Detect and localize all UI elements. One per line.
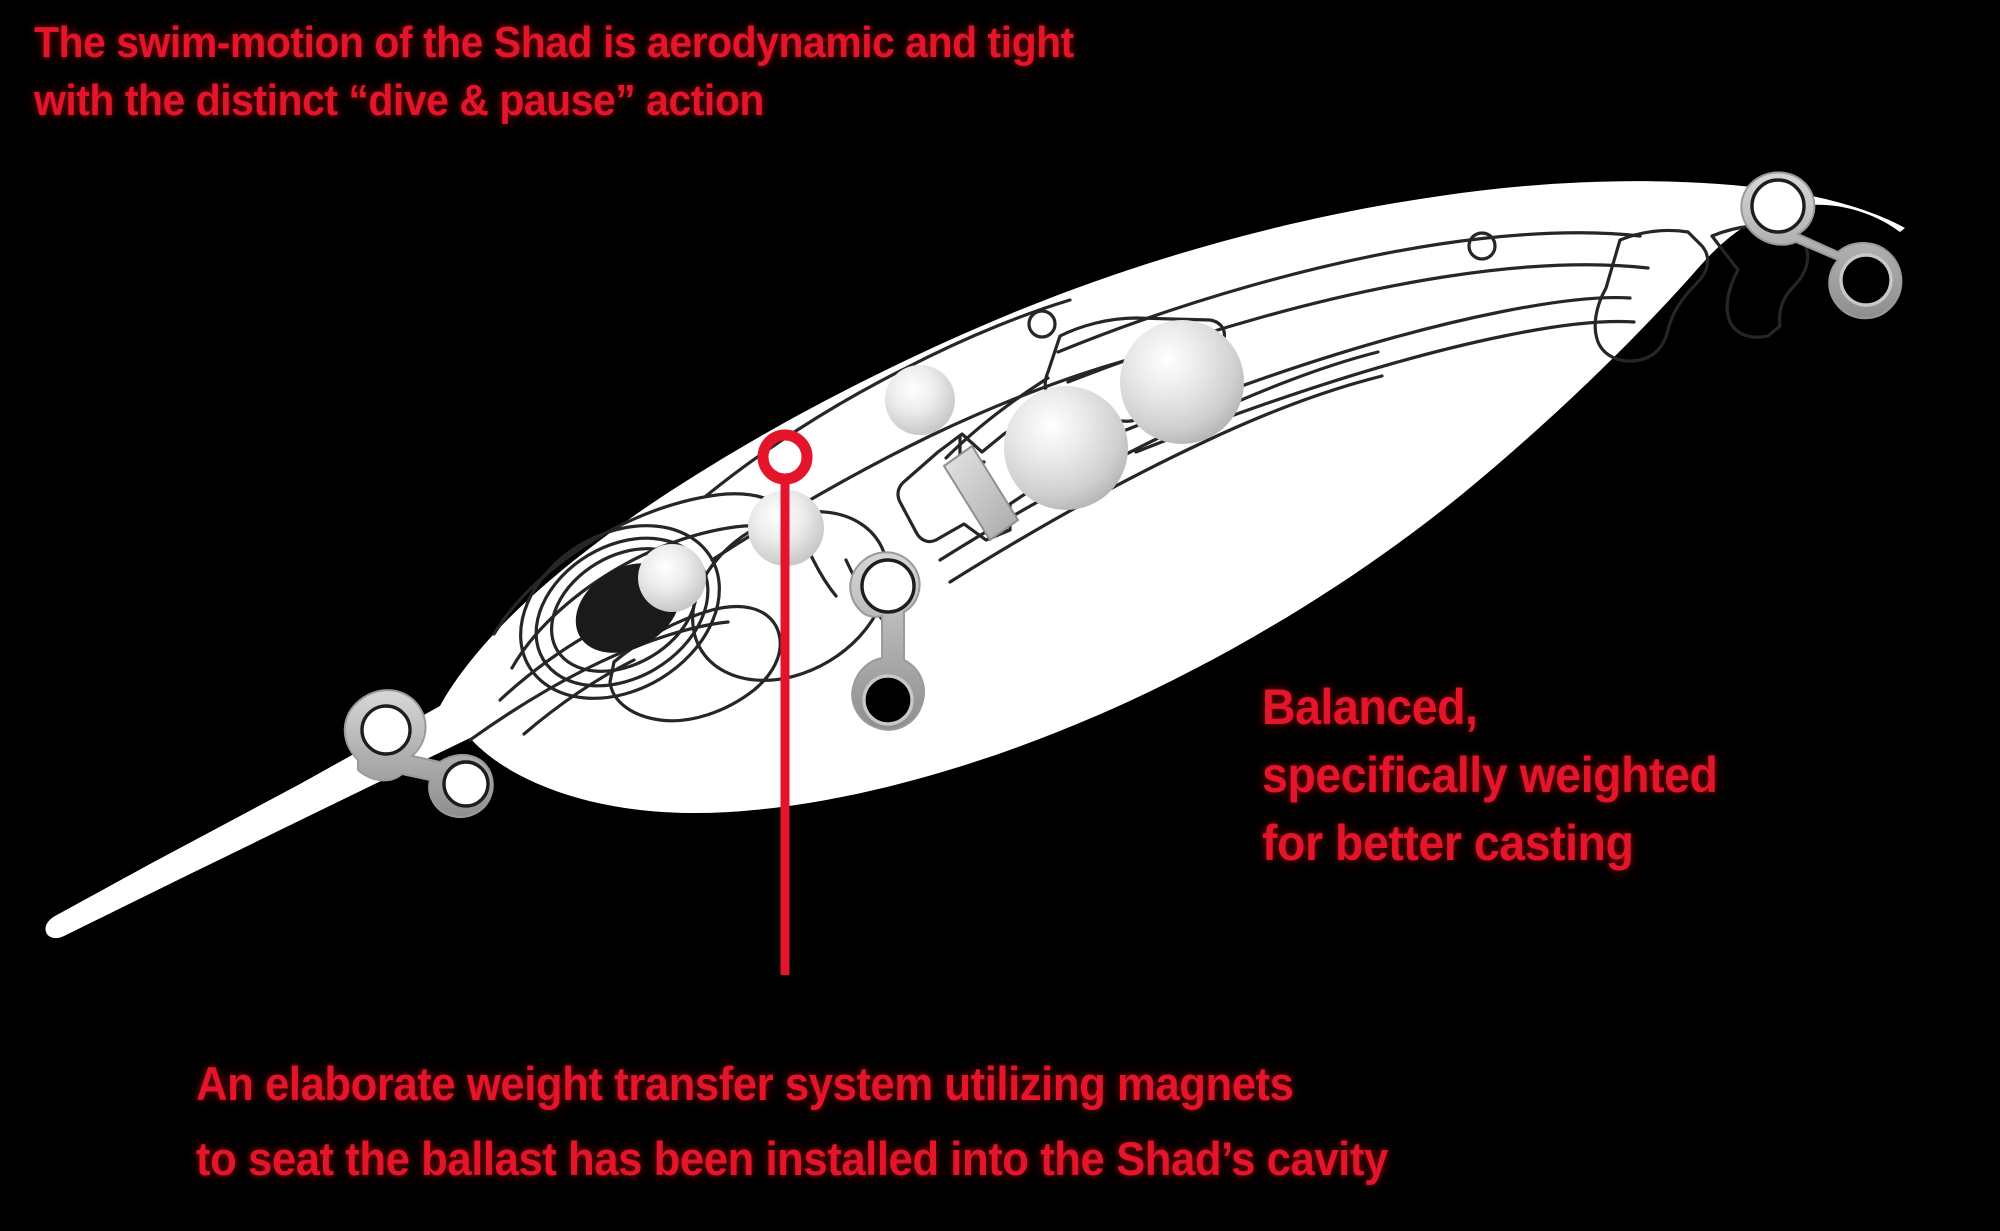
internal-chamber-lines bbox=[706, 225, 1808, 582]
weight-transfer-caption-line-1: An elaborate weight transfer system util… bbox=[196, 1046, 1388, 1121]
magnet-callout bbox=[763, 435, 807, 975]
callout-circle-marker bbox=[763, 435, 807, 479]
ballast-chamber bbox=[898, 431, 1042, 542]
swim-motion-caption-line-2: with the distinct “dive & pause” action bbox=[34, 72, 1074, 130]
head-outlines bbox=[470, 477, 918, 740]
balanced-weighting-caption: Balanced, specifically weighted for bett… bbox=[1262, 673, 1717, 877]
weight-transfer-caption-line-2: to seat the ballast has been installed i… bbox=[196, 1121, 1388, 1196]
lure-eye bbox=[559, 545, 696, 671]
magnet bbox=[944, 446, 1018, 540]
weight-transfer-caption: An elaborate weight transfer system util… bbox=[196, 1046, 1388, 1196]
weight-ball-small-head bbox=[748, 490, 824, 566]
weight-ball-small-chin bbox=[638, 544, 706, 612]
swim-motion-caption: The swim-motion of the Shad is aerodynam… bbox=[34, 14, 1074, 130]
balanced-weighting-caption-line-3: for better casting bbox=[1262, 809, 1717, 877]
nose-line-tie-split-ring bbox=[345, 690, 493, 817]
weight-ball-small-upper bbox=[885, 365, 955, 435]
weight-ball-large-front bbox=[1004, 386, 1128, 510]
balanced-weighting-caption-line-1: Balanced, bbox=[1262, 673, 1717, 741]
tail-hook-hanger-split-ring bbox=[1741, 172, 1901, 318]
swim-motion-caption-line-1: The swim-motion of the Shad is aerodynam… bbox=[34, 14, 1074, 72]
belly-hook-hanger-split-ring bbox=[850, 552, 924, 729]
weight-ball-large-rear bbox=[1120, 320, 1244, 444]
weight-balls bbox=[638, 320, 1244, 612]
balanced-weighting-caption-line-2: specifically weighted bbox=[1262, 741, 1717, 809]
diagram-canvas: The swim-motion of the Shad is aerodynam… bbox=[0, 0, 2000, 1231]
